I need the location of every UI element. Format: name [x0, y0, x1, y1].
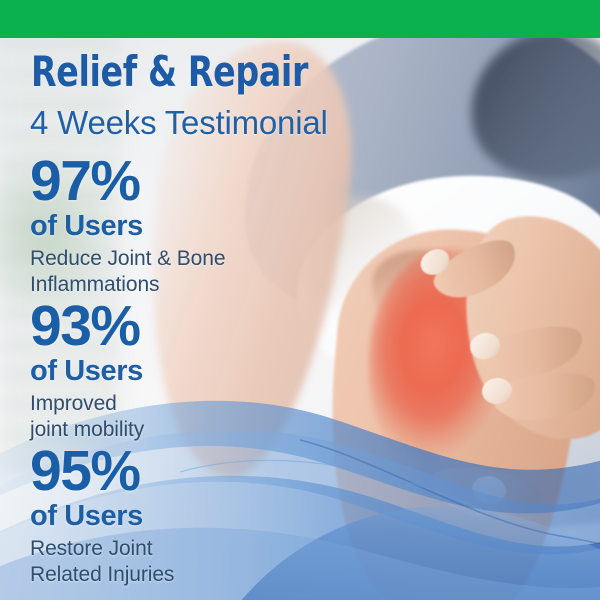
headline-subtitle: 4 Weeks Testimonial	[30, 104, 328, 142]
stat-audience-label: of Users	[30, 356, 144, 387]
stat-description: Improved joint mobility	[30, 391, 144, 442]
stat-percentage: 97%	[30, 152, 225, 210]
stat-block-1: 97% of Users Reduce Joint & Bone Inflamm…	[30, 152, 225, 298]
stat-block-2: 93% of Users Improved joint mobility	[30, 297, 144, 443]
stat-description: Reduce Joint & Bone Inflammations	[30, 246, 225, 297]
headline-title: Relief & Repair	[31, 51, 308, 93]
stat-percentage: 95%	[30, 442, 174, 500]
stat-block-3: 95% of Users Restore Joint Related Injur…	[30, 442, 174, 588]
stat-audience-label: of Users	[30, 211, 225, 242]
advertisement-banner: Relief & Repair 4 Weeks Testimonial 97% …	[0, 0, 600, 600]
stat-description: Restore Joint Related Injuries	[30, 536, 174, 587]
stat-audience-label: of Users	[30, 501, 174, 532]
stat-percentage: 93%	[30, 297, 144, 355]
content-overlay: Relief & Repair 4 Weeks Testimonial 97% …	[0, 0, 600, 600]
